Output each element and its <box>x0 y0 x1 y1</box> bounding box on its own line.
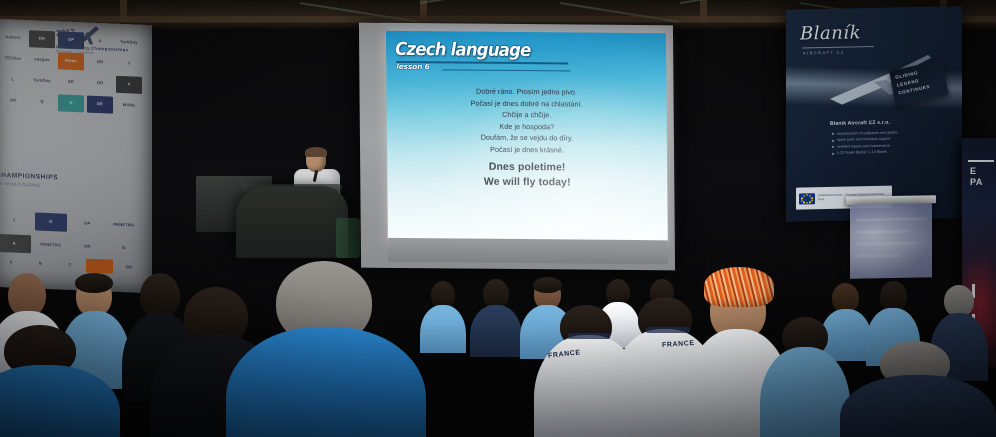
slide-body-text: Dobré ráno. Prosím jedno pivo. Počasí je… <box>386 85 667 156</box>
sponsor-logo: J <box>116 55 142 73</box>
presentation-slide: Czech language lesson 6 Dobré ráno. Pros… <box>386 31 668 245</box>
sponsor-logo: MVDb <box>116 97 142 115</box>
sponsor-logo: PENETRO <box>108 215 141 234</box>
blanik-bullet-list: manufacturer of sailplanes and gliders s… <box>832 129 942 157</box>
right-banner-text: E PA <box>970 166 983 188</box>
event-name: World Gliding Championships Pociunai / L… <box>56 44 129 56</box>
sponsor-logo: V <box>116 76 142 94</box>
slide-title: Czech language <box>395 39 531 61</box>
eu-flag-icon <box>799 193 815 204</box>
bandana-headscarf <box>704 267 774 307</box>
sponsor-logo-grid-top: Auburn DR GP U TurkDoy TECDoc enogue Ram… <box>0 25 146 119</box>
sponsor-logo: GP <box>58 31 84 49</box>
lesson-underline <box>442 69 570 72</box>
briefing-room-scene: Auburn DR GP U TurkDoy TECDoc enogue Ram… <box>0 0 996 437</box>
audience-person-foreground-blue <box>226 261 426 437</box>
sponsor-logo: OR <box>87 54 113 72</box>
sponsor-logo: Q <box>29 93 55 111</box>
audience-group: FRANCE FRANCE <box>0 247 996 437</box>
audience-person <box>420 281 466 351</box>
championship-subtitle: FAI WORLD GLIDING <box>0 181 40 188</box>
sponsor-logo: T <box>0 211 31 230</box>
sponsor-logo: TECDoc <box>0 50 26 68</box>
audience-person-foreground-right <box>840 341 996 437</box>
sponsor-logo: TurkDoy <box>29 72 55 90</box>
sponsor-logo: U <box>87 33 113 51</box>
banner-rule <box>968 160 994 162</box>
slide-lesson-label: lesson 6 <box>396 62 429 71</box>
audience-person <box>760 317 850 437</box>
sponsor-logo: OR <box>0 92 26 110</box>
sponsor-logo: SD <box>58 73 84 91</box>
slide-punchline: We will fly today! <box>387 174 667 191</box>
championship-header: CHAMPIONSHIPS <box>0 165 146 211</box>
sponsor-logo: L <box>0 71 26 89</box>
sponsor-logo: TurkDoy <box>116 34 142 52</box>
sponsor-logo: R <box>35 212 68 231</box>
projection-screen: Czech language lesson 6 Dobré ráno. Pros… <box>359 23 675 271</box>
blanik-logo-rule <box>802 46 874 49</box>
blanik-company-name: Blanik Aircraft CZ s.r.o. <box>830 120 890 127</box>
slide-punchline-block: Dnes poletime! We will fly today! <box>387 159 667 191</box>
sponsor-logo: OO <box>87 75 113 93</box>
blanik-slogan-text: GLIDING LEGEND CONTINUES <box>895 64 945 97</box>
slide-line: Počasí je dnes krásné. <box>387 142 667 156</box>
sponsor-logo: H <box>58 94 84 112</box>
audience-person <box>470 279 522 355</box>
glider-icon <box>72 23 102 50</box>
championship-year: 2017 <box>56 27 76 38</box>
sponsor-logo: Auburn <box>0 29 26 47</box>
blanik-brand-logo: Blaník <box>800 22 861 44</box>
sponsor-logo: GP <box>71 214 104 233</box>
sponsor-logo: DE <box>87 96 113 114</box>
sponsor-logo: DR <box>29 30 55 48</box>
championship-title: CHAMPIONSHIPS <box>0 171 58 183</box>
sponsor-logo: Ramo <box>58 52 84 70</box>
sponsor-logo: enogue <box>29 51 55 69</box>
list-item: L-23 Super Blanik / L-13 Blanik <box>832 148 942 157</box>
audience-person-foreground-edge <box>0 325 120 437</box>
blanik-banner: Blaník AIRCRAFT CZ GLIDING LEGEND CONTIN… <box>786 6 962 222</box>
